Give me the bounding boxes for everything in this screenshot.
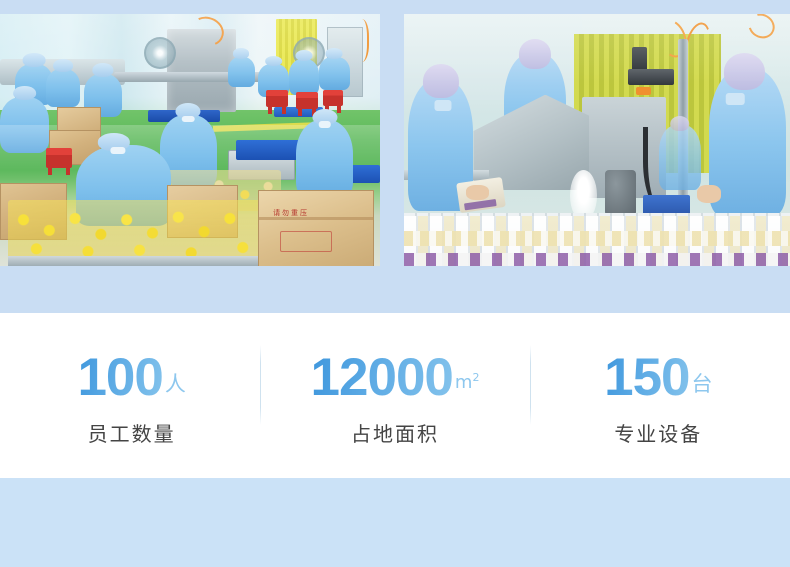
worker: [289, 59, 319, 94]
worker: [46, 69, 80, 107]
stat-value: 150台: [527, 351, 790, 404]
stat-number: 100: [77, 348, 162, 407]
stat-label: 专业设备: [527, 418, 790, 447]
photo-right-scene: [404, 14, 790, 266]
stat-unit-base: m: [455, 372, 473, 393]
stat-label: 员工数量: [0, 418, 263, 447]
hood-cap: [519, 39, 551, 69]
blue-rack: [236, 140, 301, 160]
stat-unit: 人: [165, 372, 186, 396]
hood-cap: [423, 64, 459, 98]
face-mask: [435, 100, 452, 110]
stat-unit-superscript: 2: [472, 371, 479, 384]
photo-band: 请勿重压: [0, 0, 790, 313]
jar-purple-labels: [404, 253, 790, 266]
hairnet-cap: [92, 63, 113, 77]
face-mask: [319, 121, 332, 127]
box-stamp: [280, 231, 332, 253]
stat-value: 100人: [0, 351, 263, 404]
hand: [697, 185, 720, 203]
machine-head: [628, 69, 674, 84]
bottom-blue-band: [0, 478, 790, 567]
cardboard-box: [57, 107, 101, 132]
hairnet-cap: [233, 48, 249, 58]
hairnet-cap: [295, 50, 312, 61]
page-root: 请勿重压: [0, 0, 790, 567]
cardboard-box-labeled: 请勿重压: [258, 190, 374, 266]
stat-unit: m2: [455, 372, 480, 393]
photo-factory-filling-machine[interactable]: [404, 14, 790, 266]
orange-knob: [636, 87, 651, 95]
stat-label: 占地面积: [263, 418, 526, 447]
worker: [296, 120, 353, 201]
red-stool: [266, 90, 288, 107]
hairnet-cap: [13, 86, 37, 100]
hairnet-cap: [53, 59, 73, 72]
stat-value: 12000m2: [263, 351, 526, 404]
stats-row: 100人 员工数量 12000m2 占地面积 150台 专业设备: [0, 313, 790, 478]
work-table-edge: [8, 256, 282, 266]
hairnet-cap: [326, 48, 343, 58]
stat-equipment-count: 150台 专业设备: [527, 345, 790, 447]
face-mask: [726, 93, 745, 105]
machine-arm: [632, 47, 647, 72]
worker: [659, 125, 701, 191]
hairnet-cap: [23, 53, 46, 67]
red-stool: [323, 90, 343, 106]
orange-cable-coil: [352, 19, 369, 62]
worker-right: [709, 69, 786, 215]
photo-factory-packaging-line[interactable]: 请勿重压: [0, 14, 380, 266]
box-warning-text: 请勿重压: [273, 208, 309, 218]
hand: [466, 185, 489, 200]
hairnet-cap: [265, 56, 283, 66]
face-mask: [182, 116, 195, 122]
face-mask: [110, 147, 125, 154]
jar-contents: [404, 231, 790, 246]
stat-unit: 台: [692, 372, 713, 396]
stat-number: 150: [604, 348, 689, 407]
stat-employee-count: 100人 员工数量: [0, 345, 263, 447]
stat-number: 12000: [311, 348, 453, 407]
red-stool: [296, 92, 318, 109]
worker: [228, 57, 255, 87]
photo-left-scene: 请勿重压: [0, 14, 380, 266]
worker: [319, 57, 349, 90]
stat-floor-area: 12000m2 占地面积: [263, 345, 526, 447]
wall-fan-icon: [144, 37, 176, 69]
motor-unit: [605, 170, 636, 215]
hood-cap: [670, 116, 690, 132]
hood-cap: [724, 53, 764, 90]
red-stool: [46, 148, 72, 168]
